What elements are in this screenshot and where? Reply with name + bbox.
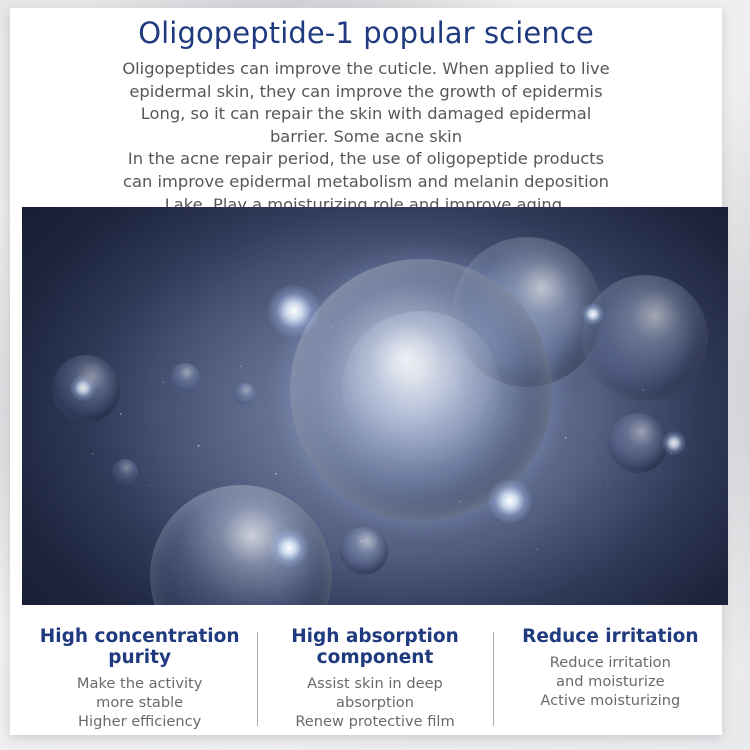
feature-title-line-1: Reduce irritation: [499, 626, 722, 647]
feature-desc-line-2: and moisturize: [499, 672, 722, 691]
feature-desc-line-3: Higher efficiency: [28, 712, 251, 731]
feature-desc-line-2: more stable: [28, 693, 251, 712]
feature-description: Reduce irritation and moisturize Active …: [499, 653, 722, 710]
description-line-5: In the acne repair period, the use of ol…: [30, 148, 702, 171]
feature-description: Assist skin in deep absorption Renew pro…: [263, 674, 486, 731]
hero-vignette: [22, 207, 728, 605]
feature-title-line-1: High absorption: [263, 626, 486, 647]
description-line-2: epidermal skin, they can improve the gro…: [30, 81, 702, 104]
page-title: Oligopeptide-1 popular science: [10, 16, 722, 50]
feature-title-line-1: High concentration: [28, 626, 251, 647]
feature-title: Reduce irritation: [499, 626, 722, 647]
feature-desc-line-3: Active moisturizing: [499, 691, 722, 710]
description-line-3: Long, so it can repair the skin with dam…: [30, 103, 702, 126]
feature-desc-line-1: Assist skin in deep: [263, 674, 486, 693]
feature-title-line-2: purity: [28, 647, 251, 668]
description-line-1: Oligopeptides can improve the cuticle. W…: [30, 58, 702, 81]
feature-desc-line-2: absorption: [263, 693, 486, 712]
feature-desc-line-1: Make the activity: [28, 674, 251, 693]
feature-desc-line-1: Reduce irritation: [499, 653, 722, 672]
description-line-4: barrier. Some acne skin: [30, 126, 702, 149]
feature-column-absorption: High absorption component Assist skin in…: [257, 614, 492, 740]
feature-title: High concentration purity: [28, 626, 251, 668]
hero-bubbles-image: [22, 207, 728, 605]
product-info-card: Oligopeptide-1 popular science Oligopept…: [10, 8, 722, 735]
feature-title-line-2: component: [263, 647, 486, 668]
feature-column-irritation: Reduce irritation Reduce irritation and …: [493, 614, 728, 740]
feature-columns: High concentration purity Make the activ…: [22, 614, 728, 740]
description-line-6: can improve epidermal metabolism and mel…: [30, 171, 702, 194]
feature-desc-line-3: Renew protective film: [263, 712, 486, 731]
feature-title: High absorption component: [263, 626, 486, 668]
feature-description: Make the activity more stable Higher eff…: [28, 674, 251, 731]
feature-column-purity: High concentration purity Make the activ…: [22, 614, 257, 740]
description-paragraph: Oligopeptides can improve the cuticle. W…: [30, 58, 702, 216]
